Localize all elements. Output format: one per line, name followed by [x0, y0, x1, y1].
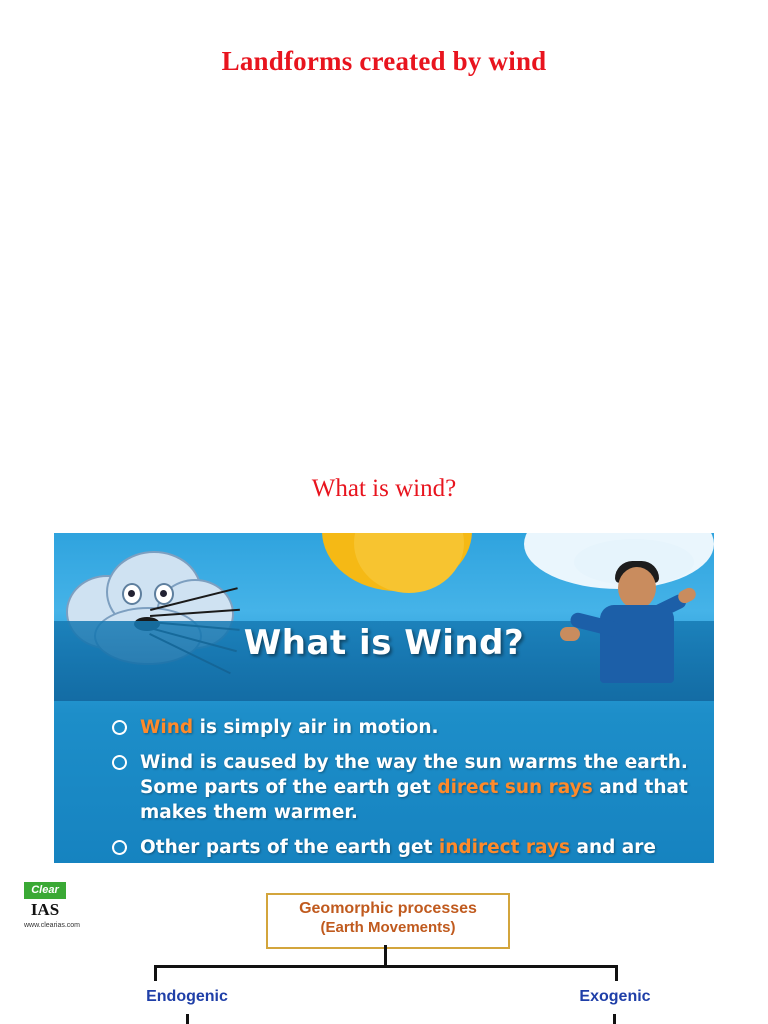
wind-infographic: What is Wind? Wind is simply air in moti… — [54, 533, 714, 863]
page-title: Landforms created by wind — [0, 46, 768, 77]
bullet-marker-icon — [110, 838, 129, 857]
flowchart-stem — [384, 945, 387, 967]
flowchart-label-endogenic: Endogenic — [92, 988, 282, 1006]
flowchart-root-line1: Geomorphic processes — [268, 900, 508, 918]
flowchart-stem-exogenic — [613, 1014, 616, 1024]
bullet-plain-text: Other parts of the earth get — [140, 837, 439, 858]
flowchart-label-exogenic: Exogenic — [520, 988, 710, 1006]
flowchart-root-box: Geomorphic processes (Earth Movements) — [266, 893, 510, 949]
flowchart-tick-left — [154, 965, 157, 981]
highlighted-term: indirect rays — [439, 837, 570, 858]
bullet-text-3: Other parts of the earth get indirect ra… — [140, 837, 656, 863]
flowchart-branch-bar — [154, 965, 618, 968]
list-item: Wind is simply air in motion. — [110, 715, 690, 740]
wind-bullet-list: Wind is simply air in motion. Wind is ca… — [110, 715, 690, 863]
bullet-plain-text: is simply air in motion. — [193, 717, 438, 738]
highlighted-term: direct sun rays — [437, 777, 592, 798]
presenter-illustration — [576, 555, 696, 681]
question-heading: What is wind? — [0, 475, 768, 503]
list-item: Other parts of the earth get indirect ra… — [110, 835, 690, 863]
bullet-text-1: Wind is simply air in motion. — [140, 717, 439, 738]
bullet-marker-icon — [110, 753, 129, 772]
list-item: Wind is caused by the way the sun warms … — [110, 750, 690, 825]
flowchart-root-line2: (Earth Movements) — [268, 919, 508, 936]
flowchart-stem-endogenic — [186, 1014, 189, 1024]
flowchart-tick-right — [615, 965, 618, 981]
bullet-text-2: Wind is caused by the way the sun warms … — [140, 752, 688, 823]
bullet-marker-icon — [110, 718, 129, 737]
highlighted-term: Wind — [140, 717, 193, 738]
